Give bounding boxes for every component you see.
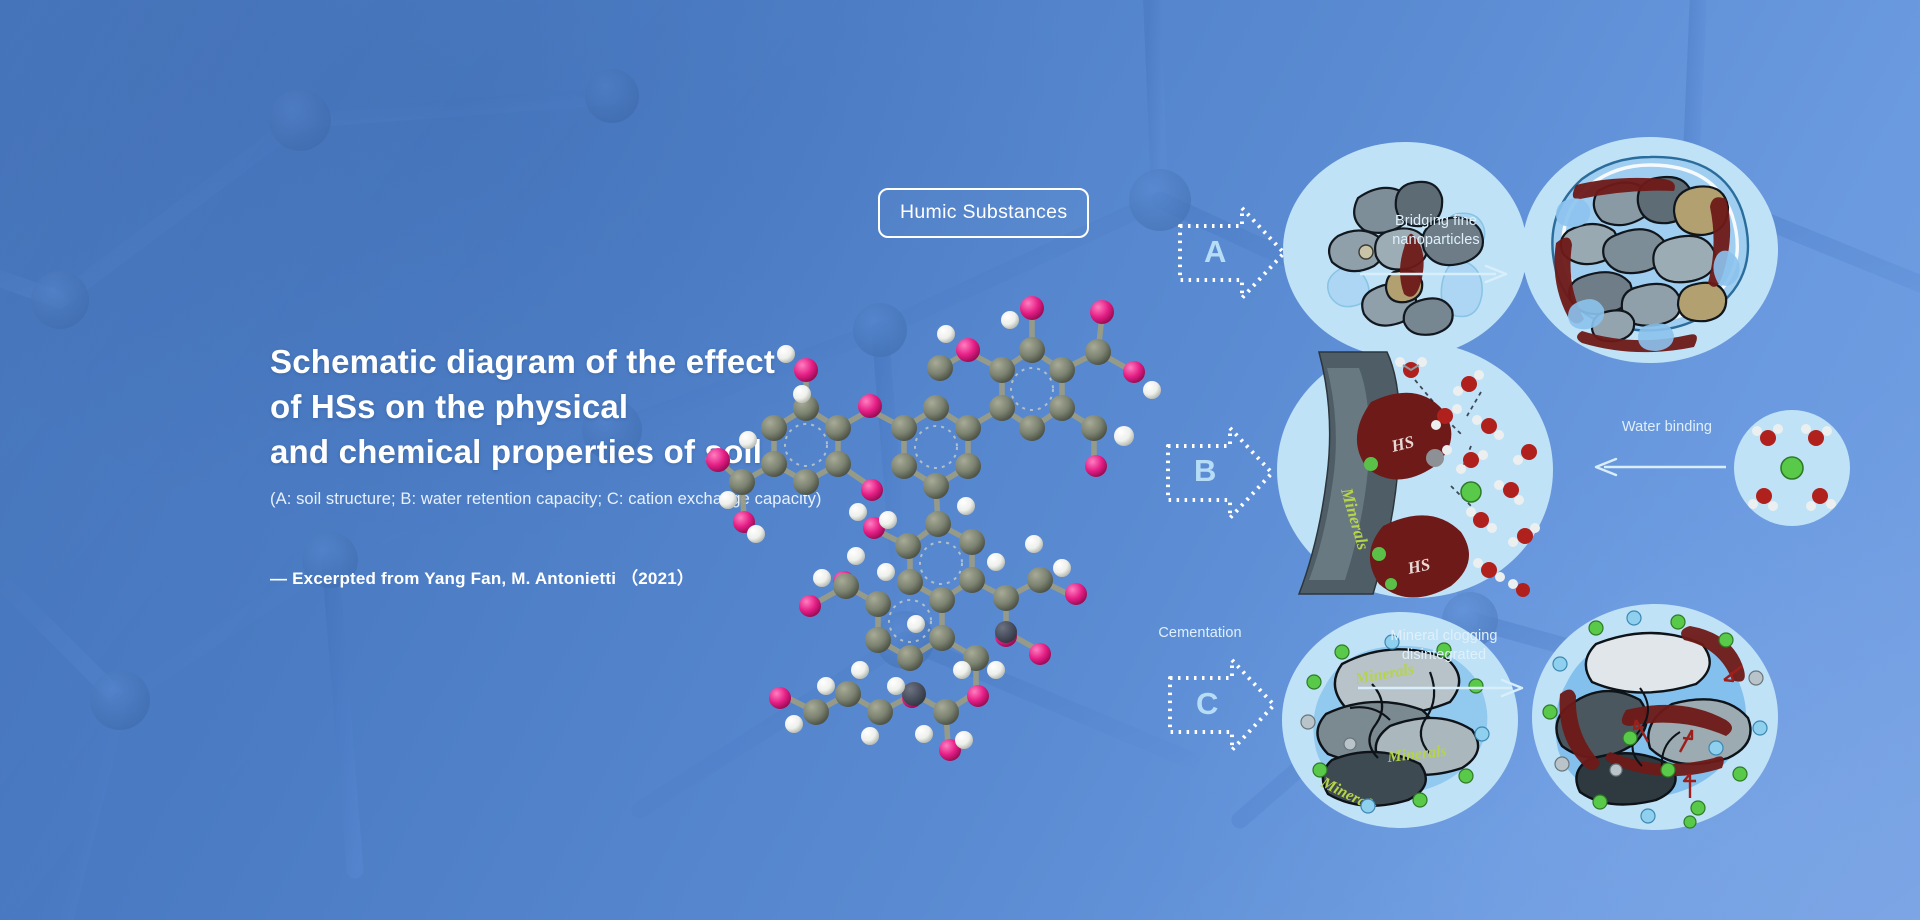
- step-c-arrow: [1162, 650, 1282, 760]
- humic-acid-molecule-model: [710, 200, 1190, 760]
- circle-hydrated-cation: [1732, 408, 1852, 528]
- circle-hs-on-mineral-with-water: Minerals HS HS: [1275, 340, 1555, 600]
- arrow-c-right: [1354, 676, 1534, 700]
- carbon-atoms: [729, 337, 1111, 725]
- label-water-binding: Water binding: [1602, 418, 1732, 437]
- arrow-a-right: [1356, 262, 1516, 286]
- nitrogen-atom: [902, 682, 926, 706]
- schematic-figure: Humic Substances: [860, 140, 1920, 820]
- step-a-arrow: [1172, 198, 1292, 308]
- label-cementation: Cementation: [1130, 624, 1270, 643]
- circle-dispersed-soil-particles: [1280, 140, 1530, 360]
- step-b-arrow: [1160, 418, 1280, 528]
- poster-canvas: Schematic diagram of the effect of HSs o…: [0, 0, 1920, 920]
- label-bridging-fine-nanoparticles: Bridging fine nanoparticles: [1356, 212, 1516, 249]
- circle-minerals-with-exchangeable-cations: [1530, 602, 1780, 832]
- arrow-b-left: [1590, 455, 1730, 479]
- nitrogen-atom: [995, 621, 1017, 643]
- circle-aggregated-soil-particles: [1520, 135, 1780, 365]
- label-mineral-clogging-disintegrated: Mineral clogging disintegrated: [1354, 627, 1534, 664]
